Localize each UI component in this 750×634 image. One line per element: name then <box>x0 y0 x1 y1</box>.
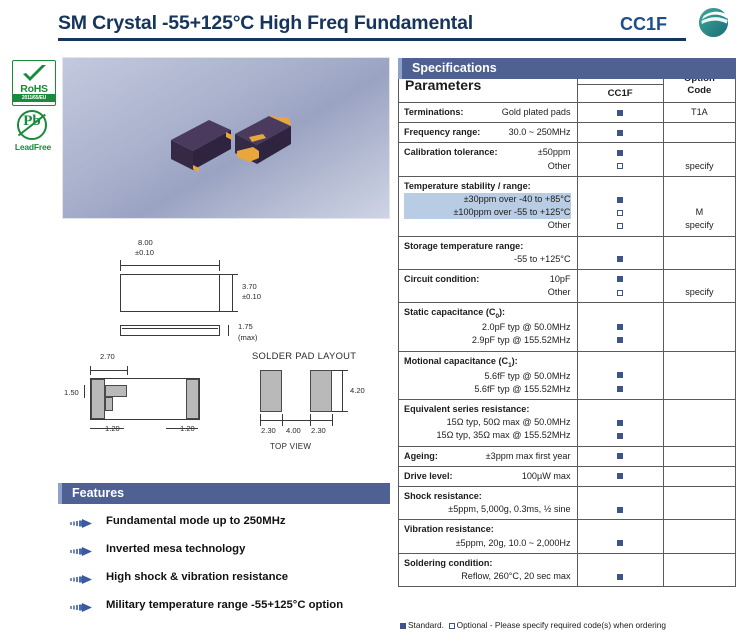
feature-item: Fundamental mode up to 250MHz <box>58 511 390 539</box>
solder-ext-2 <box>282 414 283 426</box>
specifications-table: ParametersProductOptionCodeCC1F Terminat… <box>398 66 736 587</box>
param-sub-value: Reflow, 260°C, 20 sec max <box>404 570 571 583</box>
param-name: Equivalent series resistance: <box>404 404 529 414</box>
feature-label: High shock & vibration resistance <box>106 571 288 583</box>
option-code-cell: Mspecify <box>663 176 735 236</box>
parameter-cell: Soldering condition:Reflow, 260°C, 20 se… <box>399 553 578 586</box>
option-code-cell <box>663 466 735 486</box>
option-code-cell <box>663 236 735 269</box>
table-footnote: Standard. Optional - Please specify requ… <box>400 620 666 630</box>
solder-dim-420: 4.20 <box>350 386 365 395</box>
solder-dim-gap: 4.00 <box>286 426 301 435</box>
param-name: Static capacitance (C0): <box>404 307 505 317</box>
eco-badges: RoHS 2011/65/EU Pb LeadFree <box>8 58 58 163</box>
features-section-bar: Features <box>58 483 390 504</box>
option-code-cell <box>663 520 735 553</box>
solder-pad-title: SOLDER PAD LAYOUT <box>252 350 356 361</box>
pad-ext-b <box>127 366 128 375</box>
feature-item: Military temperature range -55+125°C opt… <box>58 595 390 623</box>
page-header: SM Crystal -55+125°C High Freq Fundament… <box>0 0 750 46</box>
page-title: SM Crystal -55+125°C High Freq Fundament… <box>58 12 473 35</box>
parameter-cell: Static capacitance (C0):2.0pF typ @ 50.0… <box>399 303 578 351</box>
option-line: M <box>664 206 735 219</box>
param-name: Circuit condition: <box>404 274 479 284</box>
header-divider <box>58 38 686 41</box>
solder-dim-left: 2.30 <box>261 426 276 435</box>
dim-width-tol: ±0.10 <box>135 248 154 257</box>
crystal-package-illustration <box>63 58 389 218</box>
table-row[interactable]: Soldering condition:Reflow, 260°C, 20 se… <box>399 553 736 586</box>
product-mark-cell[interactable] <box>577 236 663 269</box>
param-sub-value: 15Ω typ, 50Ω max @ 50.0MHz <box>404 416 571 429</box>
param-name: Terminations: <box>404 107 463 117</box>
product-mark-cell[interactable] <box>577 486 663 519</box>
dim-thickness-note: (max) <box>238 333 257 342</box>
table-row[interactable]: Terminations:Gold plated padsT1A <box>399 103 736 123</box>
parameter-cell: Vibration resistance:±5ppm, 20g, 10.0 ~ … <box>399 520 578 553</box>
col-product-code: CC1F <box>577 85 663 103</box>
dim-arrow-horizontal <box>120 265 220 266</box>
param-name: Frequency range: <box>404 127 480 137</box>
ext-line-right <box>219 260 220 271</box>
solder-ext-bottom <box>332 411 348 412</box>
pad-dim-270: 2.70 <box>100 352 115 361</box>
parameter-cell: Circuit condition:10pFOther <box>399 269 578 302</box>
table-row[interactable]: Drive level:100µW max <box>399 466 736 486</box>
arrow-bullet-icon <box>70 547 92 556</box>
option-code-cell <box>663 486 735 519</box>
product-mark-cell[interactable] <box>577 103 663 123</box>
param-sub-value: 5.6fF typ @ 50.0MHz <box>404 370 571 383</box>
optional-marker-icon <box>449 623 455 629</box>
table-row[interactable]: Shock resistance:±5ppm, 5,000g, 0.3ms, ½… <box>399 486 736 519</box>
feature-label: Military temperature range -55+125°C opt… <box>106 599 343 611</box>
checkmark-icon <box>20 64 48 84</box>
ext-line-top <box>220 274 238 275</box>
product-mark-cell[interactable] <box>577 351 663 399</box>
option-line: T1A <box>664 106 735 119</box>
table-row[interactable]: Frequency range:30.0 ~ 250MHz <box>399 123 736 143</box>
dim-thickness: 1.75 <box>238 322 253 331</box>
option-line: specify <box>664 286 735 299</box>
param-sub-value: ±5ppm, 20g, 10.0 ~ 2,000Hz <box>404 537 571 550</box>
specifications-section-bar: Specifications <box>398 58 736 79</box>
parameter-cell: Frequency range:30.0 ~ 250MHz <box>399 123 578 143</box>
param-name: Soldering condition: <box>404 558 492 568</box>
param-sub-value: 15Ω typ, 35Ω max @ 155.52MHz <box>404 429 571 442</box>
features-list: Fundamental mode up to 250MHzInverted me… <box>58 511 390 623</box>
product-mark-cell[interactable] <box>577 446 663 466</box>
option-code-cell: T1A <box>663 103 735 123</box>
param-value: 100µW max <box>522 470 571 483</box>
param-value: 10pF <box>550 273 571 286</box>
dim-thickness-arrow <box>228 325 229 336</box>
ext-line-bottom <box>220 311 238 312</box>
param-name: Calibration tolerance: <box>404 147 497 157</box>
footnote-optional: Optional - Please specify required code(… <box>457 620 666 630</box>
option-code-cell <box>663 303 735 351</box>
arrow-bullet-icon <box>70 519 92 528</box>
dim-height: 3.70 <box>242 282 257 291</box>
param-sub-value: ±30ppm over -40 to +85°C <box>404 193 571 206</box>
solder-ext-3 <box>310 414 311 426</box>
pad-left-foot <box>105 397 113 411</box>
feature-item: Inverted mesa technology <box>58 539 390 567</box>
specifications-title: Specifications <box>412 61 497 75</box>
option-code-cell: specify <box>663 269 735 302</box>
pad-left-tab <box>105 385 127 397</box>
option-line: specify <box>664 219 735 232</box>
parameter-cell: Motional capacitance (C1):5.6fF typ @ 50… <box>399 351 578 399</box>
dim-height-tol: ±0.10 <box>242 292 261 301</box>
option-code-cell <box>663 446 735 466</box>
specifications-section: Specifications ParametersProductOptionCo… <box>398 58 736 587</box>
table-row[interactable]: Motional capacitance (C1):5.6fF typ @ 50… <box>399 351 736 399</box>
param-name: Storage temperature range: <box>404 241 523 251</box>
table-row[interactable]: Ageing:±3ppm max first year <box>399 446 736 466</box>
param-sub-value: 2.9pF typ @ 155.52MHz <box>404 334 571 347</box>
feature-label: Inverted mesa technology <box>106 543 245 555</box>
param-sub-value: Other <box>404 286 571 299</box>
pad-dim-line-150 <box>84 385 85 398</box>
param-value: ±50ppm <box>538 146 571 159</box>
pad-right-block <box>186 379 199 419</box>
side-view-body <box>120 325 220 336</box>
option-line: specify <box>664 160 735 173</box>
rohs-directive: 2011/65/EU <box>13 94 55 102</box>
param-sub-value: 5.6fF typ @ 155.52MHz <box>404 383 571 396</box>
lead-free-badge: Pb LeadFree <box>13 110 53 160</box>
pad-dim-line-270 <box>90 370 128 371</box>
param-name: Temperature stability / range: <box>404 181 531 191</box>
dim-width: 8.00 <box>138 238 153 247</box>
param-sub-value: ±100ppm over -55 to +125°C <box>404 206 571 219</box>
product-mark-cell[interactable] <box>577 303 663 351</box>
option-line <box>664 193 735 206</box>
param-sub-value: ±5ppm, 5,000g, 0.3ms, ½ sine <box>404 503 571 516</box>
dim-arrow-vertical <box>232 274 233 312</box>
table-row[interactable]: Vibration resistance:±5ppm, 20g, 10.0 ~ … <box>399 520 736 553</box>
table-row[interactable]: Storage temperature range:-55 to +125°C <box>399 236 736 269</box>
product-mark-cell[interactable] <box>577 553 663 586</box>
solder-pad-left <box>260 370 282 412</box>
feature-label: Fundamental mode up to 250MHz <box>106 515 286 527</box>
param-value: 30.0 ~ 250MHz <box>509 126 571 139</box>
product-mark-cell[interactable] <box>577 123 663 143</box>
product-mark-cell[interactable] <box>577 520 663 553</box>
product-photo <box>62 57 390 219</box>
table-row[interactable]: Static capacitance (C0):2.0pF typ @ 50.0… <box>399 303 736 351</box>
rohs-badge: RoHS 2011/65/EU <box>12 60 56 106</box>
product-mark-cell[interactable] <box>577 400 663 447</box>
product-mark-cell[interactable] <box>577 176 663 236</box>
param-name: Drive level: <box>404 471 453 481</box>
product-mark-cell[interactable] <box>577 269 663 302</box>
pad-dim-150: 1.50 <box>64 388 79 397</box>
solder-ext-1 <box>260 414 261 426</box>
option-code-cell <box>663 400 735 447</box>
arrow-bullet-icon <box>70 603 92 612</box>
param-value: Gold plated pads <box>502 106 571 119</box>
parameter-cell: Drive level:100µW max <box>399 466 578 486</box>
solder-dim-right: 2.30 <box>311 426 326 435</box>
arrow-bullet-icon <box>70 575 92 584</box>
pad-left-block <box>91 379 105 419</box>
parameter-cell: Ageing:±3ppm max first year <box>399 446 578 466</box>
pad-dim-base-b <box>166 428 198 429</box>
solder-pad-view-label: TOP VIEW <box>270 442 311 451</box>
parameter-cell: Temperature stability / range:±30ppm ove… <box>399 176 578 236</box>
table-row[interactable]: Circuit condition:10pFOther specify <box>399 269 736 302</box>
solder-dim-vertical <box>342 370 343 412</box>
param-sub-value: Other <box>404 160 571 173</box>
solder-pad-right <box>310 370 332 412</box>
pad-ext-a <box>90 366 91 375</box>
param-sub-value: -55 to +125°C <box>404 253 571 266</box>
parameter-cell: Terminations:Gold plated pads <box>399 103 578 123</box>
features-section: Features Fundamental mode up to 250MHzIn… <box>58 483 390 631</box>
product-code: CC1F <box>620 14 667 35</box>
parameter-cell: Shock resistance:±5ppm, 5,000g, 0.3ms, ½… <box>399 486 578 519</box>
param-value: ±3ppm max first year <box>486 450 571 463</box>
lead-free-label: LeadFree <box>10 142 56 152</box>
footnote-standard: Standard. <box>408 620 444 630</box>
parameter-cell: Calibration tolerance:±50ppmOther <box>399 143 578 176</box>
option-code-cell <box>663 553 735 586</box>
standard-marker-icon <box>400 623 406 629</box>
param-name: Vibration resistance: <box>404 524 494 534</box>
solder-ext-top <box>332 370 348 371</box>
table-row[interactable]: Equivalent series resistance:15Ω typ, 50… <box>399 400 736 447</box>
top-view-body <box>120 274 220 312</box>
solder-dim-horizontal <box>260 420 332 421</box>
table-row[interactable]: Calibration tolerance:±50ppmOther specif… <box>399 143 736 176</box>
product-mark-cell[interactable] <box>577 466 663 486</box>
solder-ext-4 <box>332 414 333 426</box>
side-view-inner-line <box>122 328 218 329</box>
table-row[interactable]: Temperature stability / range:±30ppm ove… <box>399 176 736 236</box>
option-code-cell: specify <box>663 143 735 176</box>
param-name: Shock resistance: <box>404 491 482 501</box>
option-line <box>664 180 735 193</box>
param-name: Ageing: <box>404 451 438 461</box>
ext-line-left <box>120 260 121 271</box>
parameter-cell: Storage temperature range:-55 to +125°C <box>399 236 578 269</box>
feature-item: High shock & vibration resistance <box>58 567 390 595</box>
parameter-cell: Equivalent series resistance:15Ω typ, 50… <box>399 400 578 447</box>
option-code-cell <box>663 351 735 399</box>
mechanical-drawings: 8.00 ±0.10 3.70 ±0.10 1.75 (max) 2.70 1.… <box>62 230 388 470</box>
features-title: Features <box>72 486 124 500</box>
option-code-cell <box>663 123 735 143</box>
company-globe-logo-icon <box>697 6 730 39</box>
product-mark-cell[interactable] <box>577 143 663 176</box>
param-name: Motional capacitance (C1): <box>404 356 518 366</box>
pad-dim-base-a <box>90 428 124 429</box>
param-sub-value: Other <box>404 219 571 232</box>
param-sub-value: 2.0pF typ @ 50.0MHz <box>404 321 571 334</box>
